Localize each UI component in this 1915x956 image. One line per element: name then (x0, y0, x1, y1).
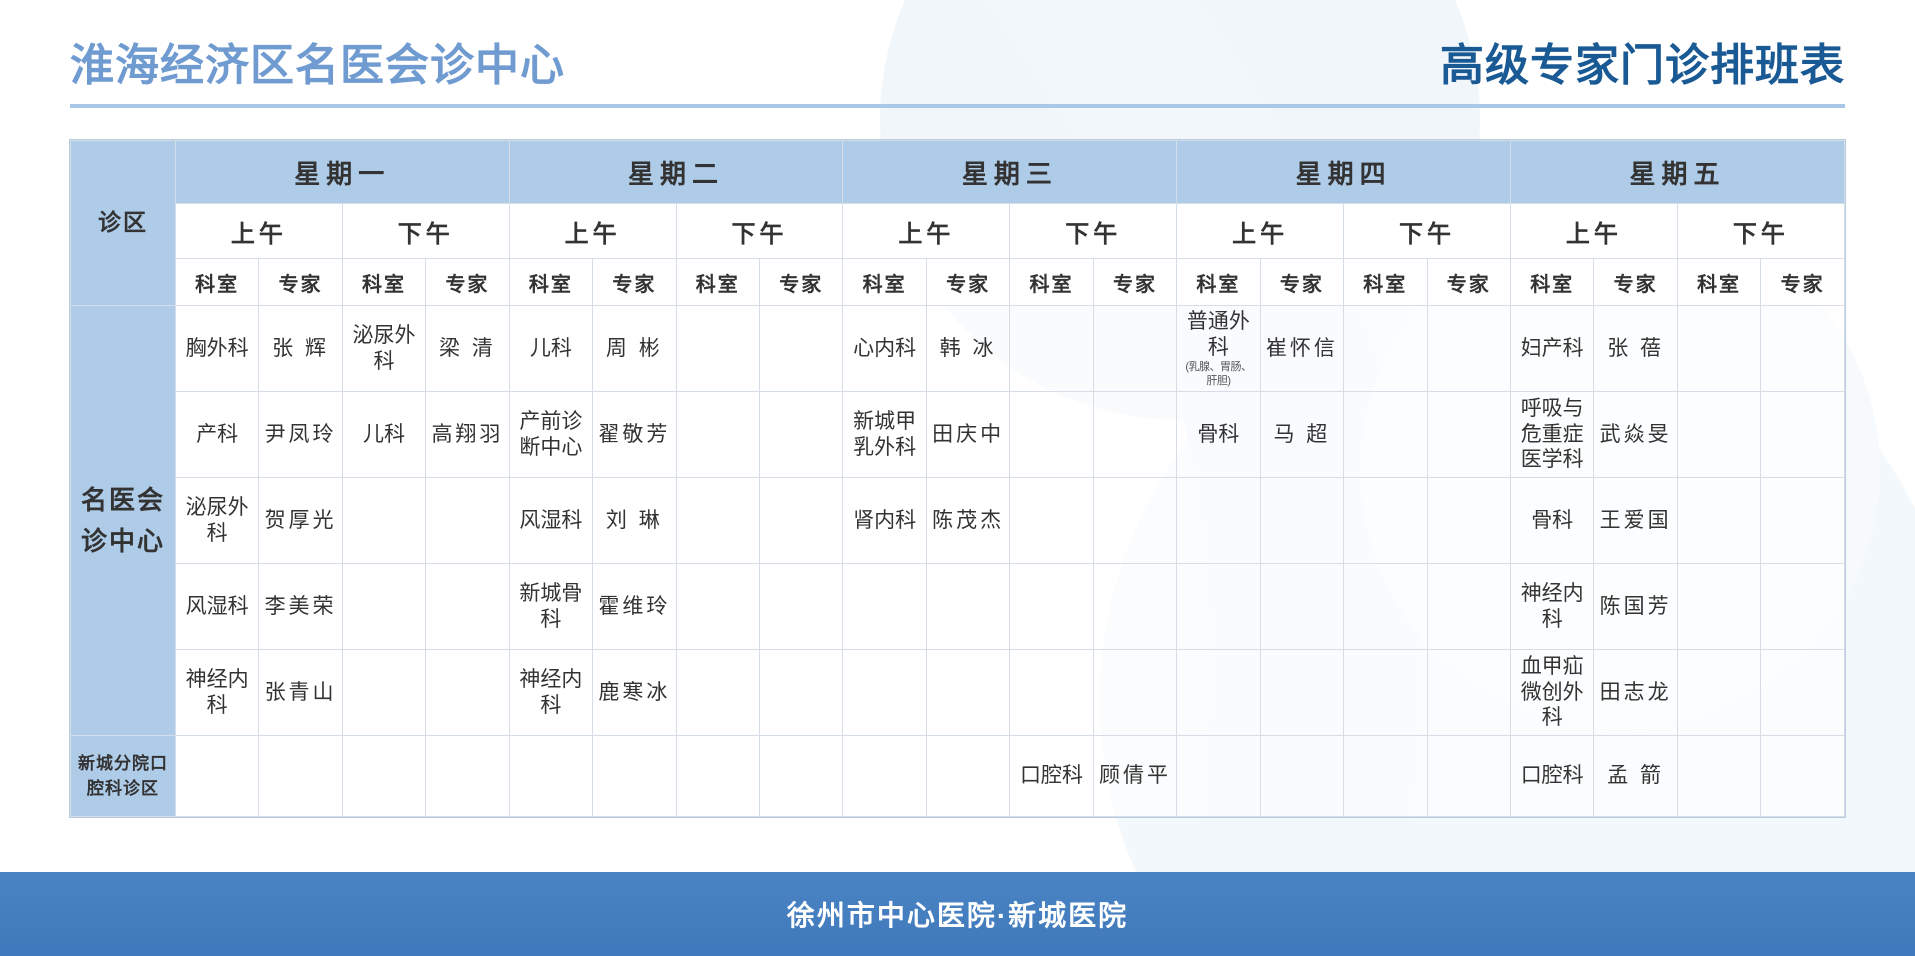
cell-department (1677, 306, 1760, 392)
cell-department (676, 564, 759, 650)
cell-department (1344, 392, 1427, 478)
cell-expert (426, 564, 509, 650)
cell-department: 儿科 (509, 306, 592, 392)
day-header-tuesday: 星期二 (509, 141, 843, 204)
cell-expert (1427, 736, 1510, 817)
cell-department (676, 306, 759, 392)
cell-expert (1260, 650, 1343, 736)
section-label-main: 名医会诊中心 (71, 306, 176, 736)
day-header-thursday: 星期四 (1177, 141, 1511, 204)
cell-department (1177, 736, 1260, 817)
half-header-tue-am: 上午 (509, 204, 676, 259)
cell-expert (759, 306, 842, 392)
table-row: 神经内科张青山神经内科鹿寒冰血甲疝微创外科田志龙 (71, 650, 1845, 736)
subheader-expert-6: 专家 (1093, 259, 1176, 306)
cell-department (509, 736, 592, 817)
cell-expert (1093, 650, 1176, 736)
cell-expert (1761, 478, 1845, 564)
cell-expert (259, 736, 342, 817)
cell-department: 肾内科 (843, 478, 926, 564)
day-header-monday: 星期一 (175, 141, 509, 204)
cell-department: 妇产科 (1510, 306, 1593, 392)
subheader-expert-1: 专家 (259, 259, 342, 306)
page-title-left: 淮海经济区名医会诊中心 (70, 29, 565, 93)
cell-department: 心内科 (843, 306, 926, 392)
table-row: 产科尹凤玲儿科高翔羽产前诊断中心翟敬芳新城甲乳外科田庆中骨科马 超呼吸与危重症医… (71, 392, 1845, 478)
subheader-dept-2: 科室 (342, 259, 425, 306)
cell-department: 口腔科 (1510, 736, 1593, 817)
cell-expert (759, 392, 842, 478)
header-divider (70, 104, 1845, 108)
cell-expert (1761, 392, 1845, 478)
cell-department: 呼吸与危重症医学科 (1510, 392, 1593, 478)
half-header-thu-pm: 下午 (1344, 204, 1511, 259)
cell-expert (1427, 478, 1510, 564)
cell-department (1010, 564, 1093, 650)
cell-department (1344, 650, 1427, 736)
cell-expert (926, 650, 1009, 736)
cell-expert: 梁 清 (426, 306, 509, 392)
cell-expert: 贺厚光 (259, 478, 342, 564)
table-row: 风湿科李美荣新城骨科霍维玲神经内科陈国芳 (71, 564, 1845, 650)
cell-department: 神经内科 (1510, 564, 1593, 650)
cell-department (843, 736, 926, 817)
cell-expert: 田志龙 (1594, 650, 1677, 736)
cell-department (843, 650, 926, 736)
cell-expert: 鹿寒冰 (593, 650, 676, 736)
cell-department: 新城骨科 (509, 564, 592, 650)
cell-expert (1260, 478, 1343, 564)
cell-expert (759, 478, 842, 564)
subheader-expert-8: 专家 (1427, 259, 1510, 306)
table-row: 泌尿外科贺厚光风湿科刘 琳肾内科陈茂杰骨科王爱国 (71, 478, 1845, 564)
cell-department: 产前诊断中心 (509, 392, 592, 478)
cell-expert: 霍维玲 (593, 564, 676, 650)
cell-department (1010, 392, 1093, 478)
cell-expert: 王爱国 (1594, 478, 1677, 564)
subheader-dept-6: 科室 (1010, 259, 1093, 306)
cell-department (342, 564, 425, 650)
header-row-halves: 上午 下午 上午 下午 上午 下午 上午 下午 上午 下午 (71, 204, 1845, 259)
subheader-dept-1: 科室 (175, 259, 258, 306)
page-title-right: 高级专家门诊排班表 (1440, 29, 1845, 93)
cell-department (1677, 392, 1760, 478)
cell-expert: 周 彬 (593, 306, 676, 392)
cell-department: 风湿科 (175, 564, 258, 650)
cell-department: 新城甲乳外科 (843, 392, 926, 478)
cell-department: 普通外科(乳腺、胃肠、肝胆) (1177, 306, 1260, 392)
subheader-dept-3: 科室 (509, 259, 592, 306)
cell-expert (1761, 564, 1845, 650)
subheader-expert-4: 专家 (759, 259, 842, 306)
cell-expert: 张青山 (259, 650, 342, 736)
cell-department (1344, 306, 1427, 392)
cell-expert: 孟 箭 (1594, 736, 1677, 817)
cell-department: 产科 (175, 392, 258, 478)
cell-expert (1427, 564, 1510, 650)
cell-department (676, 736, 759, 817)
cell-department (342, 736, 425, 817)
cell-department: 骨科 (1510, 478, 1593, 564)
cell-expert: 刘 琳 (593, 478, 676, 564)
cell-expert (759, 564, 842, 650)
cell-department (1344, 736, 1427, 817)
cell-department: 泌尿外科 (342, 306, 425, 392)
cell-department (843, 564, 926, 650)
table-row: 名医会诊中心胸外科张 辉泌尿外科梁 清儿科周 彬心内科韩 冰普通外科(乳腺、胃肠… (71, 306, 1845, 392)
cell-department: 泌尿外科 (175, 478, 258, 564)
cell-expert: 张 蓓 (1594, 306, 1677, 392)
cell-expert (1427, 392, 1510, 478)
header-row-days: 诊区 星期一 星期二 星期三 星期四 星期五 (71, 141, 1845, 204)
cell-department (1010, 650, 1093, 736)
cell-department (1677, 650, 1760, 736)
cell-expert (1427, 306, 1510, 392)
cell-department (1177, 650, 1260, 736)
cell-department (1677, 478, 1760, 564)
cell-department (175, 736, 258, 817)
cell-expert: 尹凤玲 (259, 392, 342, 478)
cell-department (1010, 306, 1093, 392)
cell-expert: 张 辉 (259, 306, 342, 392)
page-header: 淮海经济区名医会诊中心 高级专家门诊排班表 (0, 0, 1915, 122)
subheader-dept-7: 科室 (1177, 259, 1260, 306)
cell-expert: 陈茂杰 (926, 478, 1009, 564)
cell-department: 胸外科 (175, 306, 258, 392)
cell-department: 血甲疝微创外科 (1510, 650, 1593, 736)
cell-department: 神经内科 (509, 650, 592, 736)
cell-expert: 李美荣 (259, 564, 342, 650)
footer-hospital-name: 徐州市中心医院·新城医院 (787, 894, 1128, 934)
cell-expert: 翟敬芳 (593, 392, 676, 478)
cell-expert (1761, 306, 1845, 392)
cell-department (676, 650, 759, 736)
page-footer: 徐州市中心医院·新城医院 (0, 872, 1915, 956)
cell-department: 神经内科 (175, 650, 258, 736)
half-header-mon-am: 上午 (175, 204, 342, 259)
cell-department: 骨科 (1177, 392, 1260, 478)
cell-expert (1260, 736, 1343, 817)
cell-expert (759, 736, 842, 817)
cell-expert (593, 736, 676, 817)
cell-expert (1260, 564, 1343, 650)
cell-department: 口腔科 (1010, 736, 1093, 817)
cell-expert: 陈国芳 (1594, 564, 1677, 650)
cell-expert (1093, 478, 1176, 564)
corner-header-clinic-area: 诊区 (71, 141, 176, 306)
cell-expert (426, 650, 509, 736)
cell-expert (1427, 650, 1510, 736)
half-header-thu-am: 上午 (1177, 204, 1344, 259)
cell-expert: 韩 冰 (926, 306, 1009, 392)
day-header-wednesday: 星期三 (843, 141, 1177, 204)
subheader-dept-10: 科室 (1677, 259, 1760, 306)
subheader-expert-5: 专家 (926, 259, 1009, 306)
cell-department (676, 392, 759, 478)
cell-expert (426, 478, 509, 564)
cell-expert: 顾倩平 (1093, 736, 1176, 817)
cell-expert (926, 564, 1009, 650)
half-header-tue-pm: 下午 (676, 204, 843, 259)
table-body: 名医会诊中心胸外科张 辉泌尿外科梁 清儿科周 彬心内科韩 冰普通外科(乳腺、胃肠… (71, 306, 1845, 817)
half-header-wed-am: 上午 (843, 204, 1010, 259)
cell-department (1177, 478, 1260, 564)
schedule-table: 诊区 星期一 星期二 星期三 星期四 星期五 上午 下午 上午 下午 上午 下午… (70, 140, 1845, 817)
subheader-expert-2: 专家 (426, 259, 509, 306)
cell-department (1677, 736, 1760, 817)
table-row: 新城分院口腔科诊区口腔科顾倩平口腔科孟 箭 (71, 736, 1845, 817)
cell-department (1344, 564, 1427, 650)
cell-department (342, 650, 425, 736)
half-header-wed-pm: 下午 (1010, 204, 1177, 259)
cell-department (1010, 478, 1093, 564)
section-label-dental: 新城分院口腔科诊区 (71, 736, 176, 817)
cell-expert (1761, 650, 1845, 736)
subheader-dept-4: 科室 (676, 259, 759, 306)
cell-department (1177, 564, 1260, 650)
cell-expert (426, 736, 509, 817)
subheader-expert-10: 专家 (1761, 259, 1845, 306)
cell-department: 儿科 (342, 392, 425, 478)
subheader-dept-5: 科室 (843, 259, 926, 306)
half-header-fri-pm: 下午 (1677, 204, 1844, 259)
subheader-expert-9: 专家 (1594, 259, 1677, 306)
header-row-subcolumns: 科室 专家 科室 专家 科室 专家 科室 专家 科室 专家 科室 专家 科室 专… (71, 259, 1845, 306)
cell-department-note: (乳腺、胃肠、肝胆) (1180, 361, 1256, 388)
cell-expert: 马 超 (1260, 392, 1343, 478)
subheader-dept-8: 科室 (1344, 259, 1427, 306)
cell-expert (926, 736, 1009, 817)
cell-expert: 高翔羽 (426, 392, 509, 478)
cell-expert (1093, 306, 1176, 392)
subheader-expert-3: 专家 (593, 259, 676, 306)
cell-department (342, 478, 425, 564)
cell-department (676, 478, 759, 564)
subheader-expert-7: 专家 (1260, 259, 1343, 306)
table-head: 诊区 星期一 星期二 星期三 星期四 星期五 上午 下午 上午 下午 上午 下午… (71, 141, 1845, 306)
cell-expert (1093, 392, 1176, 478)
subheader-dept-9: 科室 (1510, 259, 1593, 306)
cell-expert: 武焱旻 (1594, 392, 1677, 478)
half-header-fri-am: 上午 (1510, 204, 1677, 259)
cell-expert (1761, 736, 1845, 817)
cell-department (1677, 564, 1760, 650)
cell-expert: 崔怀信 (1260, 306, 1343, 392)
cell-expert (1093, 564, 1176, 650)
half-header-mon-pm: 下午 (342, 204, 509, 259)
cell-expert (759, 650, 842, 736)
cell-department (1344, 478, 1427, 564)
day-header-friday: 星期五 (1510, 141, 1844, 204)
cell-expert: 田庆中 (926, 392, 1009, 478)
schedule-page: 淮海经济区名医会诊中心 高级专家门诊排班表 诊区 星期一 星期二 星期三 星期四 (0, 0, 1915, 956)
schedule-table-wrapper: 诊区 星期一 星期二 星期三 星期四 星期五 上午 下午 上午 下午 上午 下午… (70, 140, 1845, 817)
cell-department: 风湿科 (509, 478, 592, 564)
